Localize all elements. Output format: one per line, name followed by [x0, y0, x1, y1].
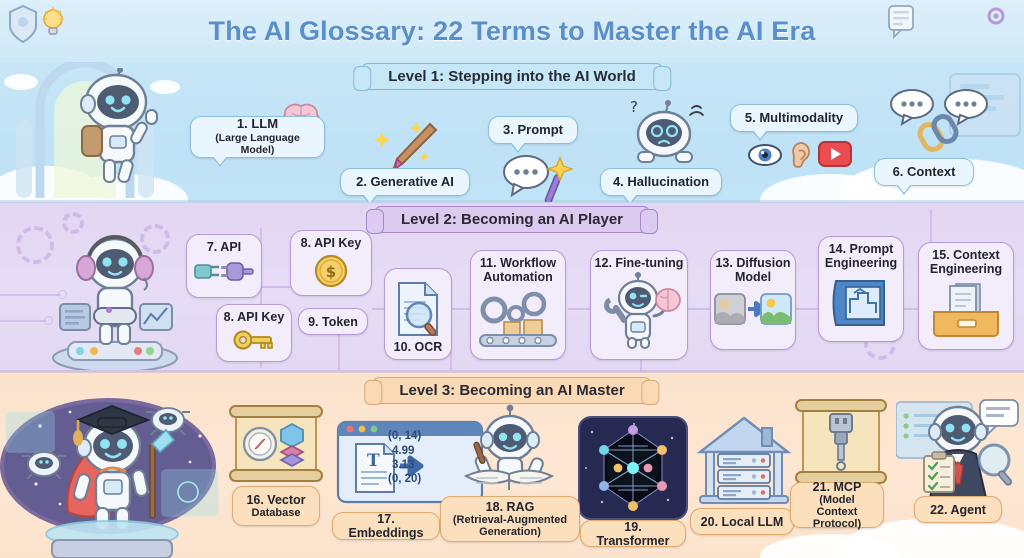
term-sublabel: Database	[252, 507, 301, 519]
level-3-section: Level 3: Becoming an AI Master 16. Vecto…	[0, 372, 1024, 558]
term-card-api-key-key[interactable]: 8. API Key	[216, 304, 292, 362]
chat-bubbles-chain-link-icon	[888, 88, 992, 164]
term-card-diffusion-model[interactable]: 13. Diffusion Model	[710, 250, 796, 350]
term-sublabel: (Model Context Protocol)	[800, 494, 874, 531]
term-label: 2. Generative AI	[356, 175, 454, 190]
term-card-hallucination[interactable]: 4. Hallucination	[600, 168, 722, 196]
gold-coin-dollar-icon: $	[313, 253, 349, 289]
term-card-rag[interactable]: 18. RAG (Retrieval-Augmented Generation)	[440, 496, 580, 542]
blueprint-icon	[830, 275, 892, 329]
term-card-fine-tuning[interactable]: 12. Fine-tuning	[590, 250, 688, 360]
term-label: 9. Token	[308, 315, 358, 329]
term-card-embeddings[interactable]: 17. Embeddings	[332, 512, 440, 540]
term-sublabel: (Retrieval-Augmented Generation)	[450, 514, 570, 539]
term-card-context[interactable]: 6. Context	[874, 158, 974, 186]
robot-reading-book-icon	[456, 404, 562, 496]
svg-text:$: $	[326, 263, 336, 281]
term-label: 14. Prompt Engineering	[819, 242, 903, 270]
mascot-level-3-robot	[0, 392, 228, 558]
term-label: 21. MCP	[813, 480, 862, 494]
gears-conveyor-belt-boxes-icon	[476, 290, 560, 348]
term-label: 19. Transformer	[590, 520, 676, 548]
chat-document-icon	[886, 4, 916, 40]
term-label: 1. LLM	[237, 117, 278, 132]
term-label: 22. Agent	[930, 503, 986, 517]
term-card-ocr[interactable]: 10. OCR	[384, 268, 452, 360]
bubble-tail	[511, 142, 525, 151]
svg-text:T: T	[367, 451, 380, 471]
confused-robot-icon: ?	[626, 98, 708, 168]
vector-value: (0, 20)	[388, 472, 421, 486]
term-card-workflow-automation[interactable]: 11. Workflow Automation	[470, 250, 566, 360]
level-2-banner: Level 2: Becoming an AI Player	[374, 206, 650, 233]
circuit-line	[0, 320, 46, 322]
bubble-tail	[753, 130, 767, 139]
file-box-documents-icon	[930, 282, 1002, 338]
level-2-section: Level 2: Becoming an AI Player 7. API 8.…	[0, 202, 1024, 372]
term-label: 7. API	[207, 240, 241, 254]
chat-bubble-magic-wand-icon	[498, 150, 586, 202]
term-card-api-key-coin[interactable]: 8. API Key $	[290, 230, 372, 296]
term-label: 20. Local LLM	[701, 515, 784, 529]
scroll-compass-cubes-icon	[228, 402, 324, 488]
svg-text:?: ?	[630, 98, 638, 116]
robot-suit-clipboard-magnifier-icon	[896, 398, 1020, 498]
vector-value: (0, 14)	[388, 429, 421, 443]
bubble-tail	[213, 156, 227, 165]
gear-icon	[984, 4, 1008, 28]
mascot-level-1-robot	[62, 68, 172, 186]
scroll-usb-connector-icon	[794, 396, 888, 490]
term-label: 3. Prompt	[503, 123, 563, 138]
plug-connector-icon	[193, 257, 255, 285]
shield-icon	[8, 4, 38, 44]
term-label: 4. Hallucination	[613, 175, 709, 190]
robot-wrench-brain-icon	[596, 272, 682, 350]
term-label: 17. Embeddings	[342, 512, 430, 540]
term-label: 10. OCR	[394, 340, 443, 354]
vector-value: 3.13	[392, 458, 414, 472]
term-label: 11. Workflow Automation	[471, 256, 565, 284]
header-section: The AI Glossary: 22 Terms to Master the …	[0, 0, 1024, 62]
term-card-vector-database[interactable]: 16. Vector Database	[232, 486, 320, 526]
page-title: The AI Glossary: 22 Terms to Master the …	[209, 16, 816, 47]
term-label: 6. Context	[893, 165, 956, 180]
term-card-mcp[interactable]: 21. MCP (Model Context Protocol)	[790, 482, 884, 528]
mascot-level-2-robot	[50, 220, 180, 370]
gear-icon	[16, 226, 54, 264]
term-card-prompt-engineering[interactable]: 14. Prompt Engineering	[818, 236, 904, 342]
bubble-tail	[363, 194, 377, 202]
term-label: 16. Vector	[246, 493, 305, 507]
embedding-vector-values: (0, 14) 4.99 3.13 (0, 20)	[388, 429, 448, 487]
connector-line	[688, 308, 710, 310]
term-label: 18. RAG	[486, 500, 535, 514]
document-magnifier-icon	[393, 280, 443, 338]
term-label: 13. Diffusion Model	[711, 256, 795, 284]
house-server-rack-icon	[696, 412, 792, 508]
term-card-local-llm[interactable]: 20. Local LLM	[690, 508, 794, 535]
bubble-tail	[897, 184, 911, 193]
term-card-token[interactable]: 9. Token	[298, 308, 368, 335]
level-3-banner: Level 3: Becoming an AI Master	[372, 377, 651, 404]
video-play-icon	[818, 141, 852, 167]
infographic-page: The AI Glossary: 22 Terms to Master the …	[0, 0, 1024, 558]
connector-line	[568, 308, 590, 310]
neural-network-constellation-icon	[578, 416, 688, 520]
connector-line	[796, 308, 818, 310]
title-bar: The AI Glossary: 22 Terms to Master the …	[0, 0, 1024, 62]
term-sublabel: (Large Language Model)	[200, 133, 315, 157]
ear-icon	[788, 140, 812, 170]
term-card-transformer[interactable]: 19. Transformer	[580, 520, 686, 547]
term-card-multimodality[interactable]: 5. Multimodality	[730, 104, 858, 132]
level-1-section: Level 1: Stepping into the AI World 1. L…	[0, 62, 1024, 202]
term-label: 5. Multimodality	[745, 111, 843, 126]
term-card-generative-ai[interactable]: 2. Generative AI	[340, 168, 470, 196]
term-card-context-engineering[interactable]: 15. Context Engineering	[918, 242, 1014, 350]
bubble-tail	[623, 194, 637, 202]
term-label: 12. Fine-tuning	[595, 256, 684, 270]
eye-icon	[748, 142, 782, 168]
term-label: 15. Context Engineering	[919, 248, 1013, 276]
term-label: 8. API Key	[224, 310, 285, 324]
term-label: 8. API Key	[301, 236, 362, 250]
term-card-agent[interactable]: 22. Agent	[914, 496, 1002, 523]
key-icon	[232, 327, 276, 353]
vector-value: 4.99	[392, 444, 414, 458]
term-card-api[interactable]: 7. API	[186, 234, 262, 298]
term-card-llm[interactable]: 1. LLM (Large Language Model)	[190, 116, 325, 158]
section-divider	[0, 370, 1024, 373]
lightbulb-icon	[40, 6, 66, 40]
term-card-prompt[interactable]: 3. Prompt	[488, 116, 578, 144]
noise-to-image-arrow-icon	[714, 292, 792, 328]
level-1-banner: Level 1: Stepping into the AI World	[361, 63, 663, 90]
